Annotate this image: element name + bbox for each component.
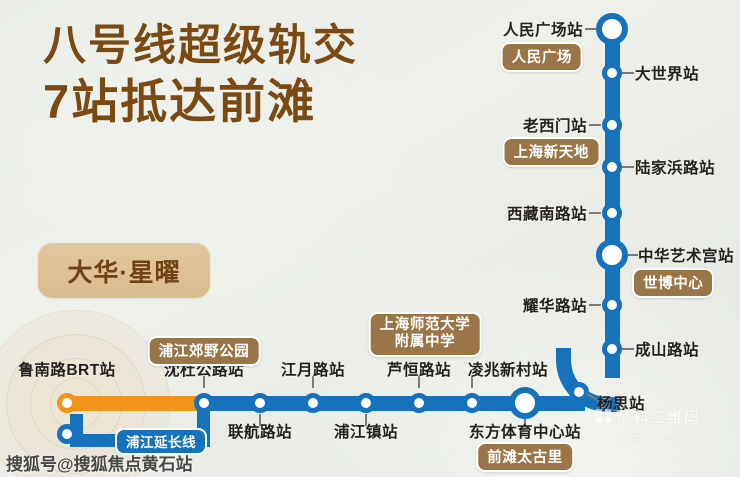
landmark-badge-pujiang-park: 浦江郊野公园 (148, 336, 261, 366)
station-dot-luheng[interactable] (409, 393, 429, 413)
station-label-lujiabang: 陆家浜路站 (635, 156, 715, 178)
tick-yaohua (589, 304, 601, 306)
station-label-yaohua: 耀华路站 (523, 294, 587, 316)
station-dot-pujiangzhen[interactable] (356, 393, 376, 413)
station-dot-yaohua[interactable] (602, 295, 622, 315)
station-dot-zhonghuayishugong[interactable] (596, 239, 628, 271)
station-label-pujiangzhen: 浦江镇站 (334, 420, 398, 442)
station-label-zhonghuayishugong: 中华艺术宫站 (638, 244, 734, 266)
station-label-xizangnan: 西藏南路站 (507, 202, 587, 224)
station-label-jiangyue: 江月路站 (281, 358, 345, 380)
brand-name: 大华·星曜 (67, 253, 180, 289)
landmark-badge-shnu-line-2: 附属中学 (380, 334, 471, 351)
headline-line-1: 八号线超级轨交 (43, 22, 358, 70)
headline-line-2: 7站抵达前滩 (43, 76, 358, 129)
tick-dashijie (622, 72, 634, 74)
tick-laoximen (589, 124, 601, 126)
tick-lujiabang (622, 166, 634, 168)
watermark-caoliao: 草料二维码 用户 oTPNR6 (596, 404, 701, 448)
tick-xizangnan (589, 212, 601, 214)
station-label-renmin-guangchang: 人民广场站 (503, 18, 583, 40)
station-dot-lingzhao[interactable] (462, 393, 482, 413)
station-label-lingzhao: 凌兆新村站 (468, 358, 548, 380)
station-dot-lunan-brt[interactable] (57, 393, 77, 413)
watermark-caoliao-line-1: 草料二维码 (596, 404, 701, 428)
landmark-badge-expo-center: 世博中心 (632, 268, 714, 298)
station-dot-jiangyue[interactable] (303, 393, 323, 413)
station-label-luheng: 芦恒路站 (387, 358, 451, 380)
station-label-chengshan: 成山路站 (635, 338, 699, 360)
poster-canvas: 八号线超级轨交 7站抵达前滩 大华·星曜 人民广场站 人民广场 大世界站 老西门… (0, 0, 740, 477)
tick-chengshan (622, 348, 634, 350)
station-label-laoximen: 老西门站 (523, 114, 587, 136)
watermark-caoliao-text: 草料二维码 (616, 404, 701, 428)
station-dot-dashijie[interactable] (602, 63, 622, 83)
watermark-caoliao-line-2: 用户 oTPNR6 (618, 431, 701, 448)
metro-line-orange-segment (62, 396, 204, 411)
station-label-lunan-brt: 鲁南路BRT站 (18, 358, 115, 380)
station-dot-yangsi[interactable] (569, 382, 589, 402)
landmark-badge-renmin-square: 人民广场 (501, 42, 583, 72)
brand-badge: 大华·星曜 (38, 243, 210, 298)
watermark-sohu: 搜狐号@搜狐焦点黄石站 (6, 450, 193, 475)
station-dot-chengshan[interactable] (602, 339, 622, 359)
station-dot-laoximen[interactable] (602, 115, 622, 135)
station-dot-shendu[interactable] (194, 393, 214, 413)
station-label-dashijie: 大世界站 (635, 62, 699, 84)
station-dot-lujiabang[interactable] (602, 157, 622, 177)
station-dot-branch-terminus[interactable] (57, 424, 77, 444)
station-dot-xizangnan[interactable] (602, 203, 622, 223)
qr-code-icon (596, 409, 611, 423)
station-dot-renmin-guangchang[interactable] (596, 13, 628, 45)
station-label-lianhang: 联航路站 (228, 420, 292, 442)
station-label-dongfang: 东方体育中心站 (469, 420, 581, 442)
station-dot-dongfang[interactable] (509, 387, 541, 419)
headline-block: 八号线超级轨交 7站抵达前滩 (43, 22, 358, 129)
landmark-badge-shnu-line-1: 上海师范大学 (380, 317, 471, 334)
landmark-badge-qiantan-taikooli: 前滩太古里 (476, 442, 574, 472)
tick-renmin-guangchang (585, 28, 597, 30)
station-dot-lianhang[interactable] (250, 393, 270, 413)
landmark-badge-shnu: 上海师范大学 附属中学 (369, 312, 482, 357)
landmark-badge-xintiandi: 上海新天地 (503, 137, 601, 167)
tick-zhonghuayishugong (628, 254, 638, 256)
